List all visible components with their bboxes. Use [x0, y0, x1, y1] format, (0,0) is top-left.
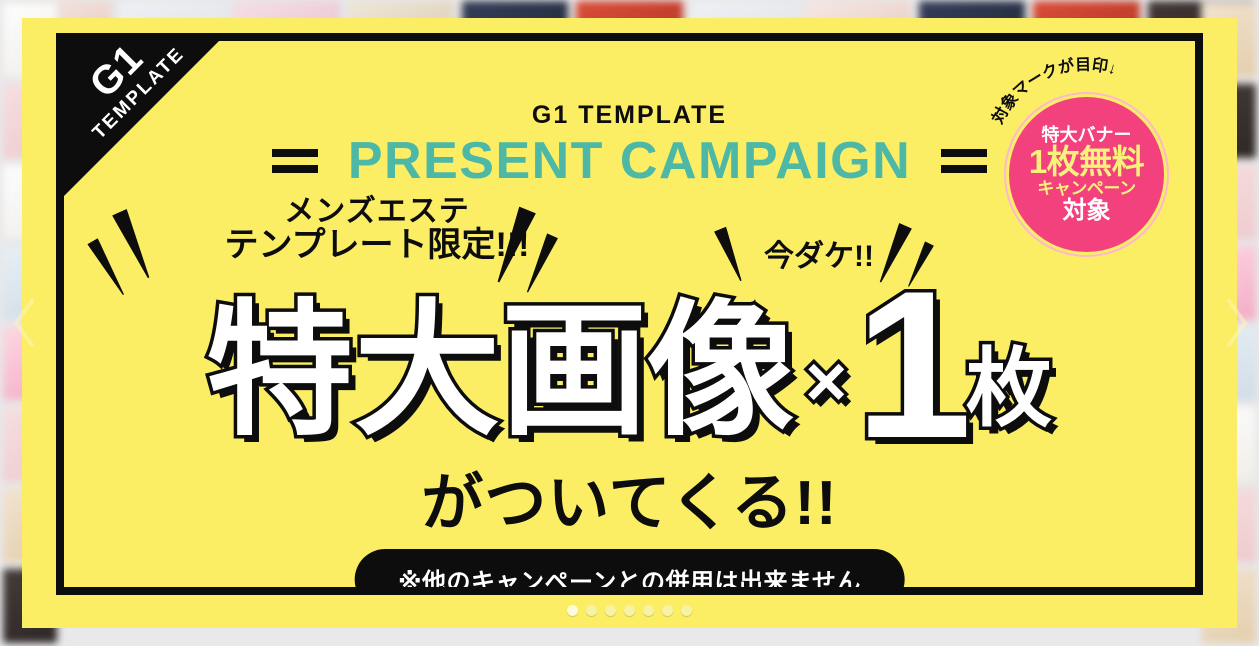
chevron-right-icon[interactable]: [1219, 295, 1253, 351]
badge-circle: 特大バナー 1枚無料 キャンペーン 対象: [1009, 97, 1164, 252]
slash-decor-mid-left: [714, 227, 747, 284]
carousel-dots[interactable]: [22, 605, 1237, 616]
badge-line-1: 特大バナー: [1042, 126, 1132, 144]
main-headline-word: 特大画像: [207, 302, 795, 441]
main-headline: 特大画像 × 1 枚: [64, 289, 1195, 440]
carousel-dot[interactable]: [586, 605, 597, 616]
main-headline-second-line: がついてくる!!: [64, 473, 1195, 535]
carousel-dot[interactable]: [567, 605, 578, 616]
badge-line-3: キャンペーン: [1037, 180, 1135, 197]
carousel-dot[interactable]: [681, 605, 692, 616]
equals-left-icon: [272, 141, 318, 181]
heading-title: PRESENT CAMPAIGN: [348, 135, 911, 187]
carousel-dot[interactable]: [605, 605, 616, 616]
slash-decor-left-1: [112, 209, 156, 281]
campaign-note: ※他のキャンペーンとの併用は出来ません: [354, 549, 905, 595]
campaign-badge: 対象マークが目印↓ 特大バナー 1枚無料 キャンペーン 対象: [991, 57, 1181, 257]
carousel-dot[interactable]: [643, 605, 654, 616]
main-headline-count: 1: [855, 289, 966, 440]
slide-frame: G1 TEMPLATE G1 TEMPLATE PRESENT CAMPAIGN: [56, 33, 1203, 595]
carousel-dot[interactable]: [662, 605, 673, 616]
badge-line-2: 1枚無料: [1029, 145, 1144, 179]
carousel-stage: G1 TEMPLATE G1 TEMPLATE PRESENT CAMPAIGN: [0, 0, 1259, 646]
equals-right-icon: [941, 141, 987, 181]
multiply-icon: ×: [795, 348, 855, 440]
campaign-slide[interactable]: G1 TEMPLATE G1 TEMPLATE PRESENT CAMPAIGN: [22, 18, 1237, 628]
badge-line-4: 対象: [1063, 199, 1111, 223]
sub-headline-line-2: テンプレート限定!!!: [162, 228, 592, 264]
main-headline-unit: 枚: [966, 349, 1052, 441]
chevron-left-icon[interactable]: [8, 295, 42, 351]
carousel-dot[interactable]: [624, 605, 635, 616]
sub-headline-left: メンズエステ テンプレート限定!!!: [162, 196, 592, 263]
